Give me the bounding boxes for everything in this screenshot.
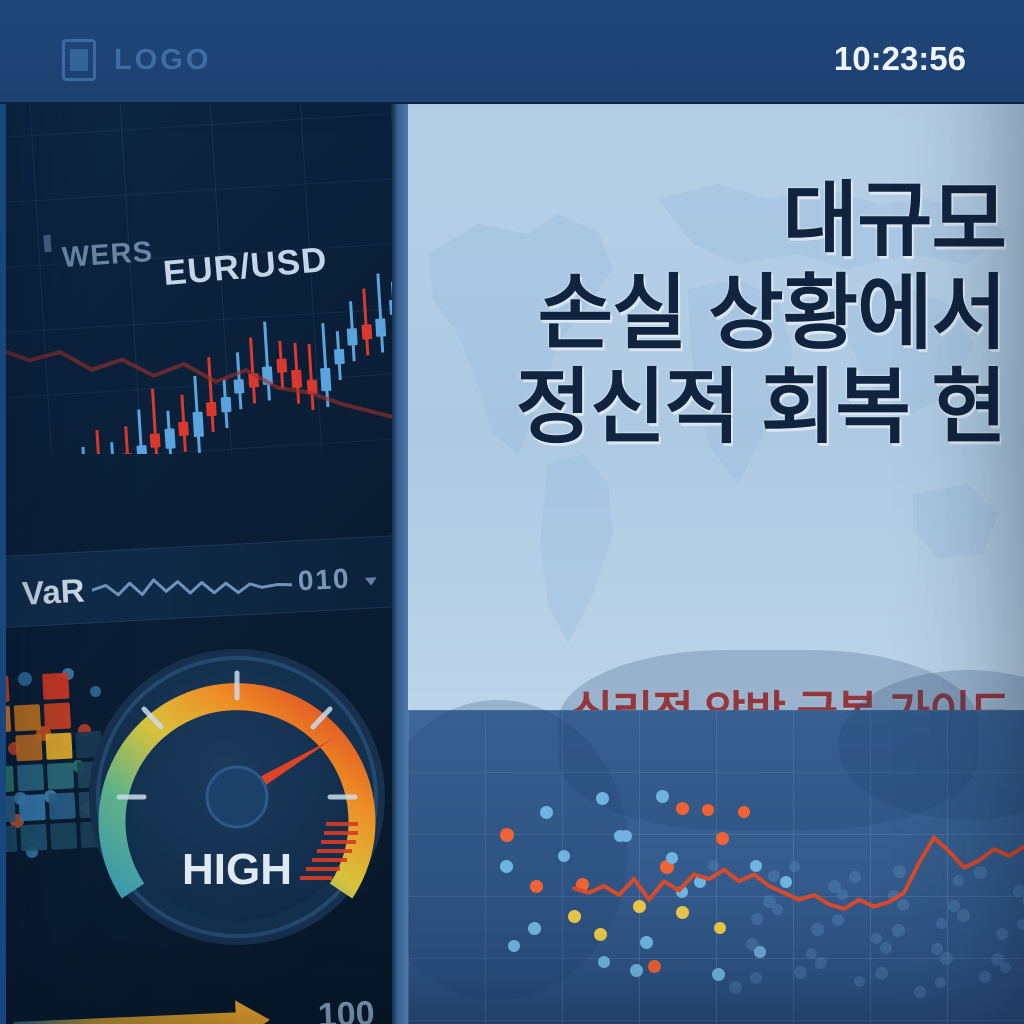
heatmap-cell bbox=[45, 733, 72, 760]
trading-dashboard-panel: WERS EUR/USD VaR 010 bbox=[0, 104, 396, 1024]
headline-line-2: 손실 상황에서 bbox=[408, 267, 1006, 360]
risk-gauge[interactable]: HIGH bbox=[86, 646, 388, 948]
headline-block: 대규모 손실 상황에서 정신적 회복 현 bbox=[408, 174, 1006, 454]
heatmap-cell bbox=[44, 703, 71, 730]
var-label: VaR bbox=[21, 572, 85, 613]
heatmap-cell bbox=[20, 824, 47, 851]
volatility-line-chart bbox=[408, 710, 1024, 1024]
content-panel: 대규모 손실 상황에서 정신적 회복 현 심리적 압박 극복 가이드 bbox=[408, 104, 1024, 1024]
arrow-head-icon bbox=[235, 999, 271, 1024]
progress-arrow-row: 100 bbox=[0, 985, 396, 1024]
heatmap-cell bbox=[50, 822, 77, 849]
arrow-value: 100 bbox=[317, 994, 375, 1024]
heatmap-cell bbox=[18, 794, 45, 821]
heatmap-cell bbox=[14, 704, 41, 731]
chart-label-partial: WERS bbox=[61, 236, 154, 275]
poster-canvas: LOGO 10:23:56 WERS EUR/USD VaR 010 bbox=[0, 0, 1024, 1024]
var-sparkline bbox=[91, 564, 293, 608]
heatmap-cell bbox=[47, 762, 74, 789]
headline-line-1: 대규모 bbox=[408, 174, 1006, 267]
candlestick-chart: WERS EUR/USD bbox=[0, 104, 396, 454]
heatmap-cell bbox=[15, 734, 42, 761]
heatmap-cell bbox=[48, 792, 75, 819]
heatmap-cell bbox=[17, 764, 44, 791]
heatmap-cell bbox=[42, 673, 69, 700]
triangle-down-icon bbox=[365, 577, 377, 586]
clock-display: 10:23:56 bbox=[834, 40, 966, 78]
app-header: LOGO 10:23:56 bbox=[0, 0, 1024, 104]
logo-text: LOGO bbox=[114, 44, 211, 77]
var-value: 010 bbox=[297, 563, 351, 598]
gauge-status-label: HIGH bbox=[182, 845, 292, 894]
var-metric-row[interactable]: VaR 010 bbox=[0, 535, 396, 628]
panel-divider bbox=[392, 104, 408, 1024]
left-accent-edge bbox=[0, 104, 6, 1024]
square-logo-icon bbox=[62, 39, 96, 81]
headline-line-3: 정신적 회복 현 bbox=[408, 361, 1006, 454]
brand-logo[interactable]: LOGO bbox=[62, 39, 211, 81]
chart-tick-marker bbox=[43, 235, 51, 252]
arrow-right-icon bbox=[14, 1012, 243, 1024]
